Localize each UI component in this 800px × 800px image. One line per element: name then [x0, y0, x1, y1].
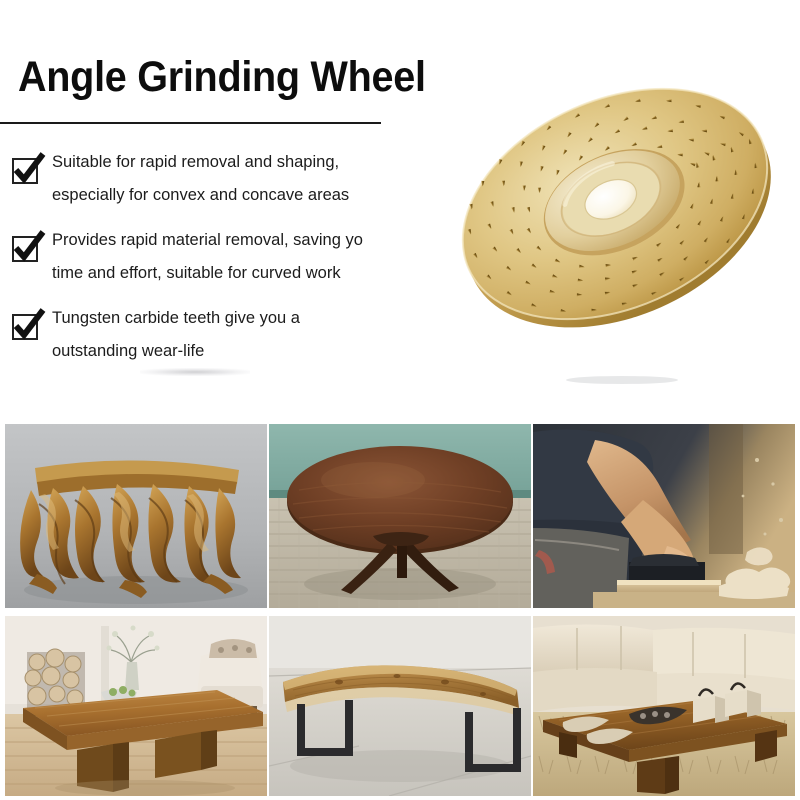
list-item-label: Tungsten carbide teeth give you a outsta…	[52, 302, 430, 368]
gallery-item-live-edge-slab-table	[269, 616, 531, 796]
grinding-wheel-illustration	[430, 8, 800, 408]
gallery-item-carved-root-table	[5, 424, 267, 608]
list-item-label: Provides rapid material removal, saving …	[52, 224, 430, 290]
gallery-item-rustic-table-on-rug	[533, 616, 795, 796]
list-item: Provides rapid material removal, saving …	[0, 224, 430, 294]
application-gallery	[0, 424, 800, 800]
product-shadow	[566, 376, 678, 384]
title-divider	[0, 122, 381, 124]
product-ground-shadow	[140, 368, 250, 376]
gallery-item-chunky-wood-coffee-table	[5, 616, 267, 796]
list-item: Tungsten carbide teeth give you a outsta…	[0, 302, 430, 372]
gallery-item-woodworker-hand-planing	[533, 424, 795, 608]
gallery-item-round-pedestal-table	[269, 424, 531, 608]
list-item-label: Suitable for rapid removal and shaping, …	[52, 146, 430, 212]
list-item: Suitable for rapid removal and shaping, …	[0, 146, 430, 216]
page-title: Angle Grinding Wheel	[18, 52, 426, 102]
check-mark-icon	[13, 308, 45, 342]
hero-copy-column: Angle Grinding Wheel Suitable for rapid …	[0, 0, 430, 418]
product-image-angle-grinding-wheel	[430, 8, 800, 408]
check-mark-icon	[13, 152, 45, 186]
hero-section: Angle Grinding Wheel Suitable for rapid …	[0, 0, 800, 418]
check-mark-icon	[13, 230, 45, 264]
feature-list: Suitable for rapid removal and shaping, …	[0, 146, 430, 380]
